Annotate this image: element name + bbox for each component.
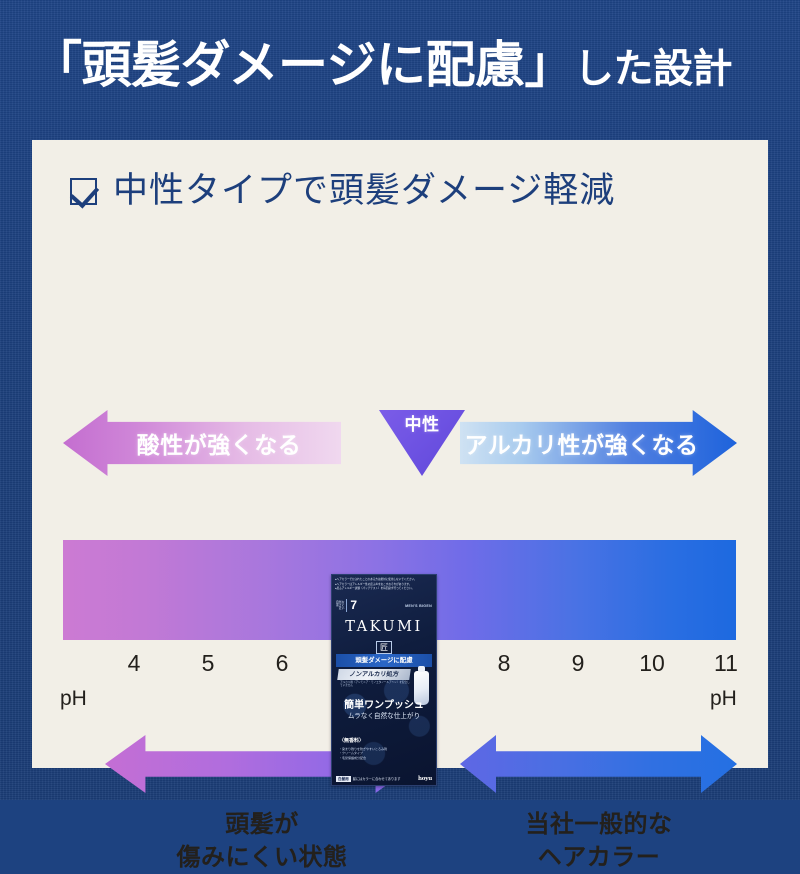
package-use-badge: 白髪用: [336, 776, 351, 782]
neutral-marker-triangle: 中性: [379, 410, 465, 476]
alkaline-arrow-label: アルカリ性が強くなる: [464, 426, 698, 460]
ph-direction-row: 酸性が強くなる 中性 アルカリ性が強くなる: [32, 410, 768, 490]
alkaline-direction-arrow: アルカリ性が強くなる: [460, 410, 737, 476]
gentle-caption-line-1: 頭髪が: [150, 808, 374, 841]
ph-tick: 10: [632, 648, 672, 678]
package-warning-notes: ●ヘアカラーでかぶれたことのある方は絶対に使用しないでください。 ●ヘアカラーは…: [335, 578, 433, 592]
package-shade-row: 自然な 黒さに 近い 7 MEN'S BIGEN: [336, 599, 432, 612]
package-manufacturer-logo: hoyu: [418, 776, 432, 782]
package-feature-bullets: 染まり残りを防ぎやすいとろみ剤 クリームタイプ 毛髪保護成分配合: [339, 747, 387, 760]
page-title-suffix: した設計: [574, 45, 732, 92]
neutral-marker-label: 中性: [405, 410, 440, 476]
ph-tick: 11: [706, 648, 746, 678]
acidic-direction-arrow: 酸性が強くなる: [63, 410, 341, 476]
gentle-caption-line-2: 傷みにくい状態: [150, 841, 374, 874]
ph-axis-label-left: pH: [60, 686, 87, 712]
haircolor-caption-line-2: ヘアカラー: [484, 841, 714, 874]
package-shade-description: 自然な 黒さに 近い: [336, 601, 344, 611]
haircolor-range-caption: 当社一般的な ヘアカラー: [484, 808, 714, 874]
package-claim-secondary: ノンアルカリ処方: [337, 669, 411, 680]
package-claim-primary: 頭髪ダメージに配慮: [336, 654, 432, 667]
content-card: 中性タイプで頭髪ダメージ軽減 酸性が強くなる 中性 アルカリ性が強くなる 4 5…: [32, 140, 768, 768]
package-feature-subline: ムラなく自然な仕上がり: [336, 712, 432, 721]
package-product-title-sub-wrap: 匠: [332, 637, 436, 655]
package-fragrance-label: 〈無香料〉: [339, 738, 364, 745]
card-heading-label: 中性タイプで頭髪ダメージ軽減: [113, 171, 615, 211]
card-heading: 中性タイプで頭髪ダメージ軽減: [70, 166, 615, 216]
package-warning-line-3: ●皮ふアレルギー試験（パッチテスト）を毎回必ず行ってください。: [335, 587, 433, 592]
ph-tick: 4: [114, 648, 154, 678]
package-shade-box: 自然な 黒さに 近い 7: [336, 599, 357, 612]
ph-tick: 6: [262, 648, 302, 678]
product-package-image: ●ヘアカラーでかぶれたことのある方は絶対に使用しないでください。 ●ヘアカラーは…: [331, 574, 437, 786]
package-product-title-sub: 匠: [376, 641, 392, 654]
package-use-note: 髪にはカラーに合わせてあります: [353, 776, 401, 782]
acidic-arrow-label: 酸性が強くなる: [137, 426, 302, 460]
package-product-title: TAKUMI: [332, 619, 436, 635]
ph-tick: 8: [484, 648, 524, 678]
package-feature-headline: 簡単ワンプッシュ: [336, 699, 432, 712]
page-title-main: 「頭髪ダメージに配慮」: [32, 35, 574, 94]
slide-page: 「頭髪ダメージに配慮」した設計 中性タイプで頭髪ダメージ軽減 酸性が強くなる 中…: [0, 0, 800, 800]
ph-tick: 9: [558, 648, 598, 678]
package-claim-secondary-note: アルカリ剤（アンモニア・モノエタノールアミン）を配合していません: [340, 681, 410, 688]
package-shade-number: 7: [346, 599, 357, 612]
package-brand-name: MEN'S BIGEN: [405, 604, 432, 608]
ph-axis-label-right: pH: [710, 686, 737, 712]
page-title: 「頭髪ダメージに配慮」した設計: [32, 32, 772, 102]
ph-tick: 5: [188, 648, 228, 678]
package-footer: 白髪用 髪にはカラーに合わせてあります hoyu: [336, 776, 432, 782]
gentle-range-caption: 頭髪が 傷みにくい状態: [150, 808, 374, 874]
checked-box-icon: [70, 178, 97, 205]
haircolor-caption-line-1: 当社一般的な: [484, 808, 714, 841]
haircolor-range-arrow: [460, 735, 737, 793]
package-bullet: 毛髪保護成分配合: [339, 756, 387, 760]
